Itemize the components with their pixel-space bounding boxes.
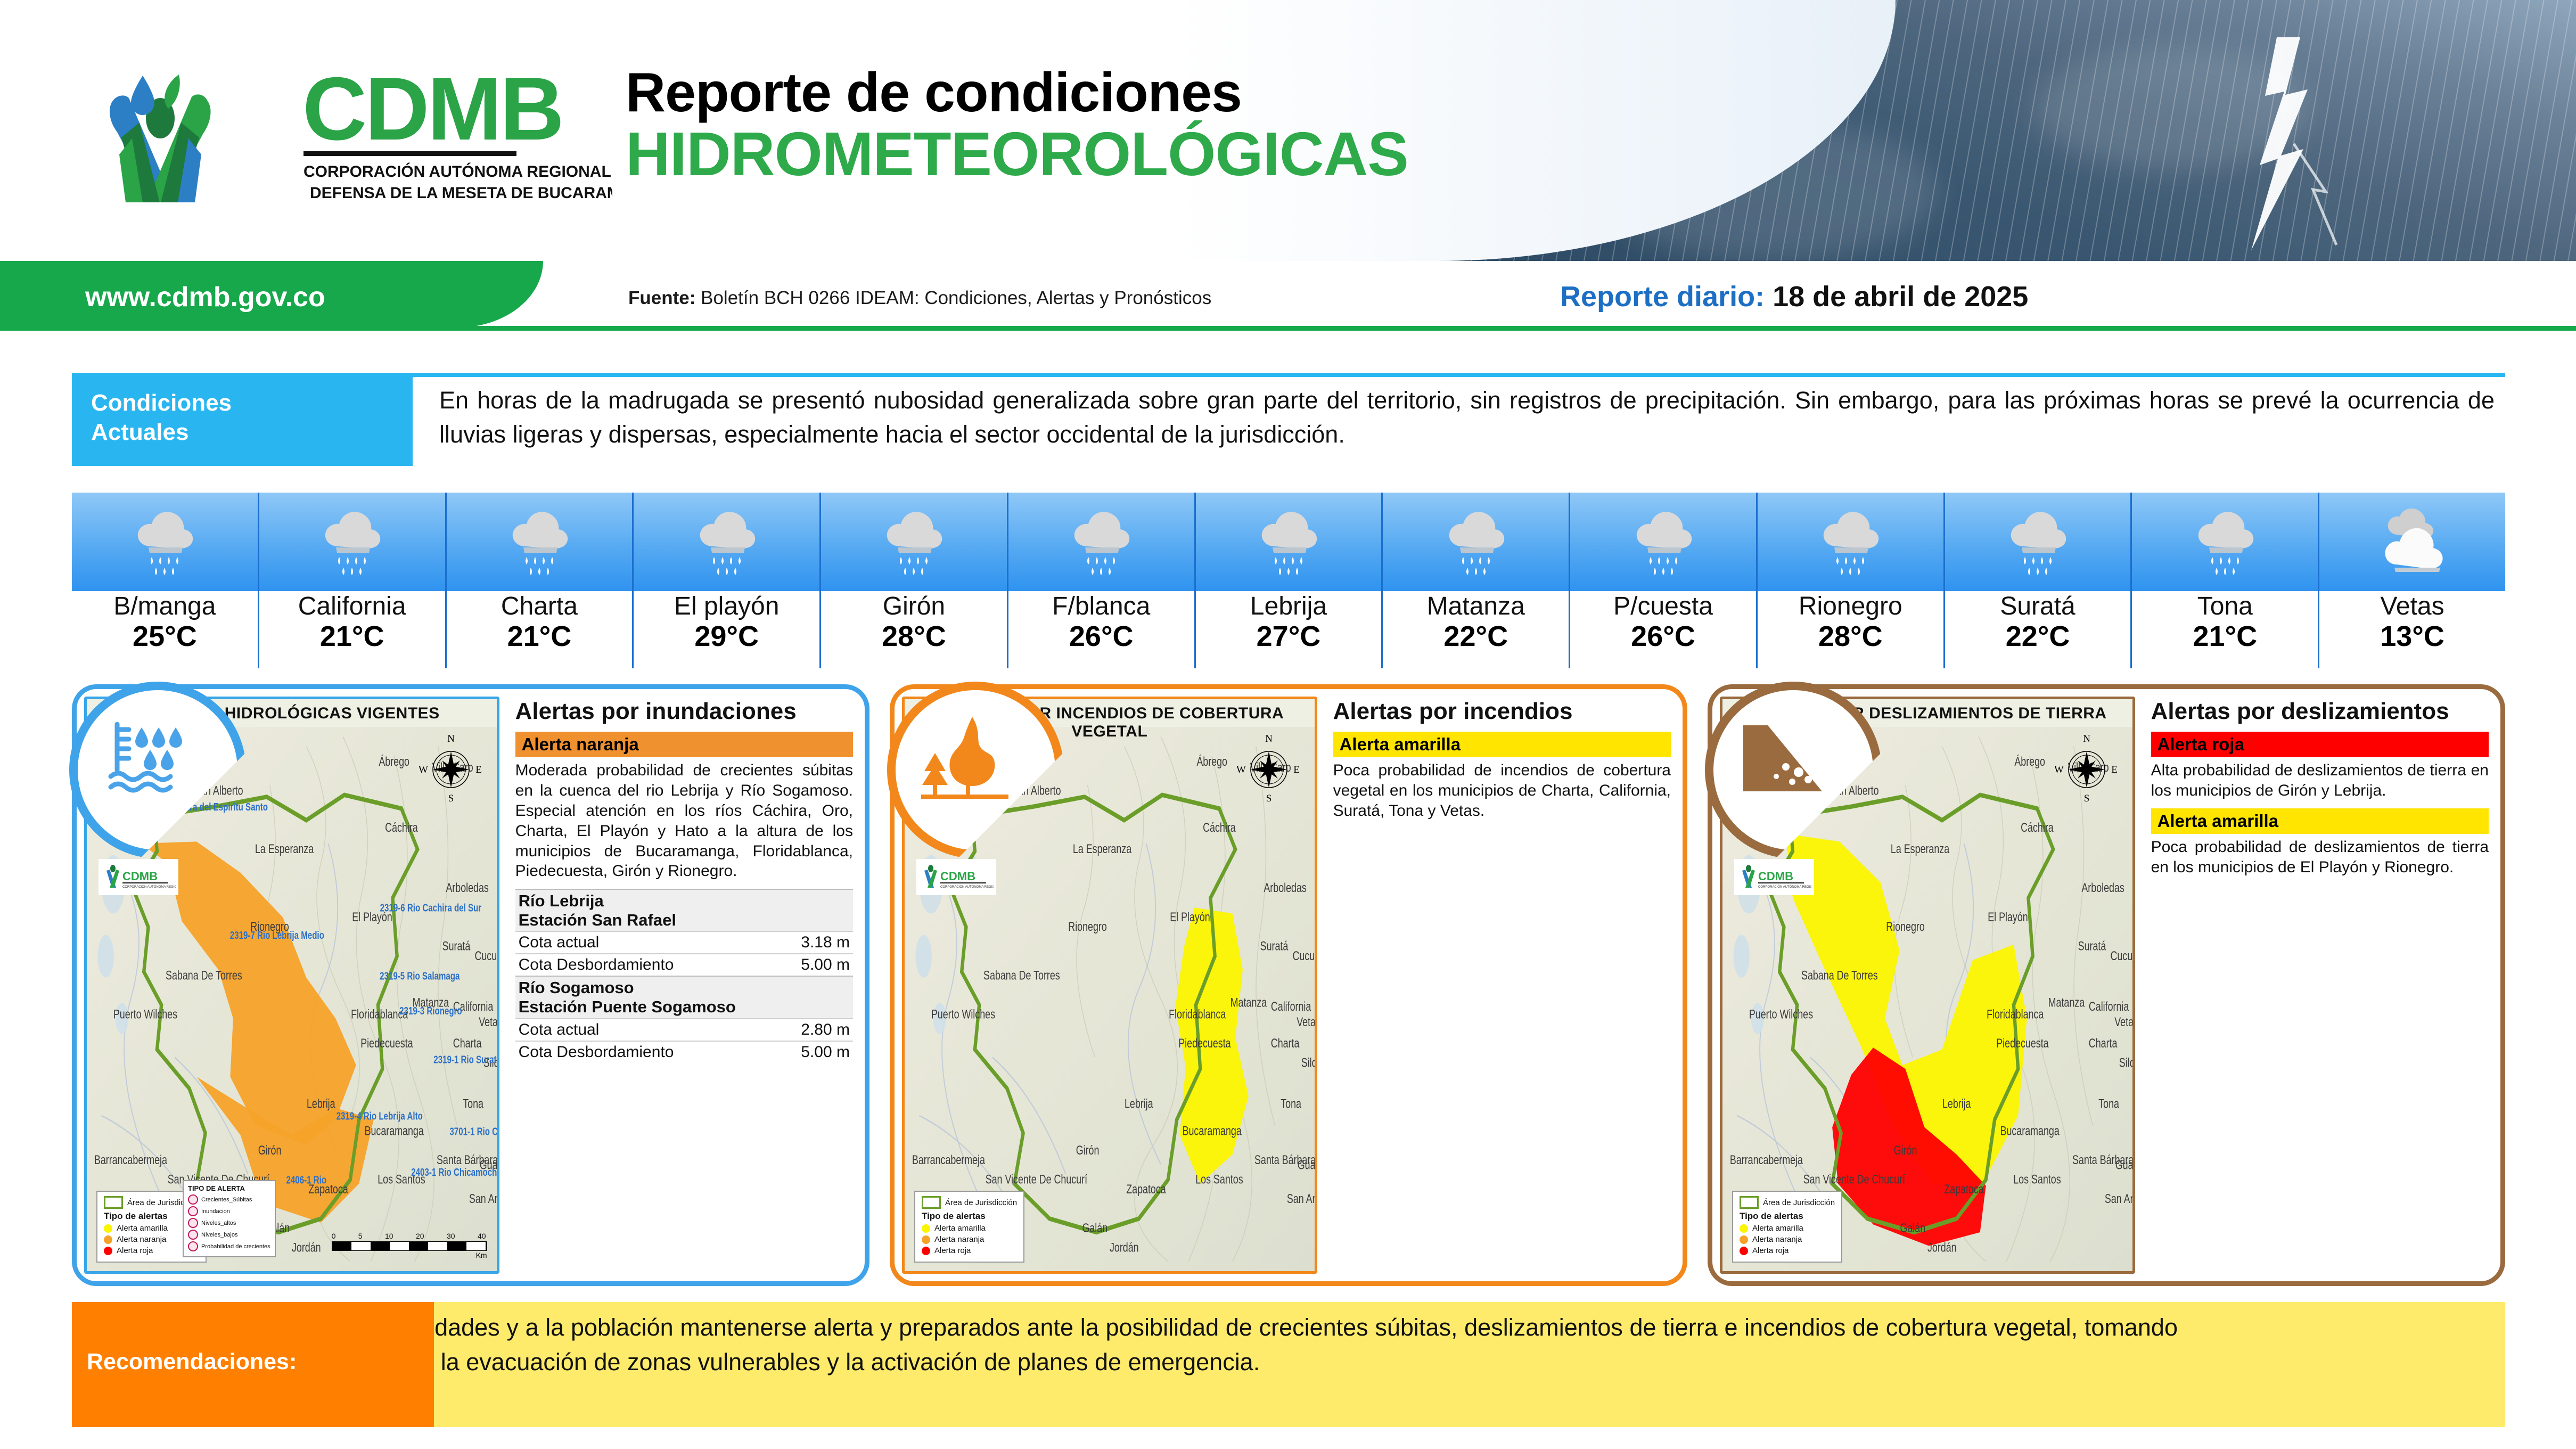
river-measure-label: Cota actual <box>519 1021 600 1039</box>
weather-labels: Rionegro 28°C <box>1758 591 1943 670</box>
map-alert-type-legend: TIPO DE ALERTA Crecientes_Súbitas Inunda… <box>183 1180 276 1257</box>
weather-temp: 28°C <box>882 620 946 654</box>
legend-color-dot <box>1740 1235 1748 1244</box>
rain-cloud-icon <box>1008 493 1194 591</box>
svg-text:La Esperanza: La Esperanza <box>1073 842 1132 856</box>
legend-color-dot <box>1740 1224 1748 1233</box>
alert-type-icon <box>188 1241 198 1251</box>
weather-temp: 26°C <box>1069 620 1134 654</box>
alert-type-legend-row: Crecientes_Súbitas <box>188 1194 270 1205</box>
svg-text:Jordán: Jordán <box>1110 1241 1139 1255</box>
svg-text:Guaca: Guaca <box>2115 1158 2132 1172</box>
svg-text:Ábrego: Ábrego <box>2014 755 2045 769</box>
weather-cell-california: California 21°C <box>259 493 447 668</box>
alert-level-badge: Alerta amarilla <box>1333 732 1671 757</box>
weather-cell-surat-: Suratá 22°C <box>1945 493 2132 668</box>
conditions-top-rule <box>413 373 2505 377</box>
svg-text:CDMB: CDMB <box>1758 870 1793 883</box>
scale-bar-graphic <box>332 1241 487 1251</box>
legend-item-row: Alerta naranja <box>922 1235 1017 1244</box>
svg-text:Charta: Charta <box>2089 1037 2118 1051</box>
svg-text:Cáchira: Cáchira <box>385 821 418 835</box>
rain-cloud-icon <box>634 493 819 591</box>
legend-item-label: Alerta roja <box>1752 1246 1789 1255</box>
weather-temp: 27°C <box>1257 620 1321 654</box>
svg-text:Puerto Wilches: Puerto Wilches <box>1749 1008 1813 1021</box>
svg-text:E: E <box>1293 764 1300 775</box>
svg-text:Rionegro: Rionegro <box>1886 920 1925 934</box>
svg-text:2319-7 Rio Lebrija Medio: 2319-7 Rio Lebrija Medio <box>230 929 324 942</box>
weather-temp: 22°C <box>1443 620 1508 654</box>
river-measure-row: Cota actual 3.18 m <box>515 931 853 953</box>
alert-type-icon <box>188 1194 198 1205</box>
weather-temp: 29°C <box>694 620 759 654</box>
scale-tick: 40 <box>478 1232 486 1240</box>
svg-text:CORPORACIÓN AUTÓNOMA REGIONAL: CORPORACIÓN AUTÓNOMA REGIONAL <box>1758 885 1811 889</box>
svg-text:Sabana De Torres: Sabana De Torres <box>166 969 242 983</box>
river-measure-row: Cota Desbordamiento 5.00 m <box>515 953 853 976</box>
rain-cloud-icon <box>447 493 633 591</box>
scale-tick: 30 <box>447 1232 455 1240</box>
svg-text:Lebrija: Lebrija <box>1942 1097 1971 1111</box>
svg-text:Suratá: Suratá <box>442 939 471 953</box>
scale-tick: 0 <box>332 1232 336 1240</box>
weather-cell-rionegro: Rionegro 28°C <box>1758 493 1945 668</box>
svg-text:La Esperanza: La Esperanza <box>1891 842 1950 856</box>
svg-text:Suratá: Suratá <box>2078 939 2106 953</box>
svg-text:California: California <box>2089 1000 2129 1014</box>
legend-item-label: Alerta amarilla <box>117 1224 168 1233</box>
legend-item-label: Alerta roja <box>117 1246 153 1255</box>
svg-text:El Playón: El Playón <box>1988 911 2028 924</box>
svg-text:3701-1 Rio Chitaga: 3701-1 Rio Chitaga <box>449 1125 496 1137</box>
green-info-bar: www.cdmb.gov.co Fuente: Boletín BCH 0266… <box>0 261 2576 328</box>
svg-text:S: S <box>1266 793 1271 803</box>
svg-text:San Vicente De Chucurí: San Vicente De Chucurí <box>986 1173 1087 1186</box>
legend-color-dot <box>104 1235 112 1244</box>
river-measure-value: 2.80 m <box>801 1021 850 1039</box>
weather-labels: P/cuesta 26°C <box>1570 591 1756 670</box>
svg-text:Galán: Galán <box>1082 1222 1107 1235</box>
weather-city: B/manga <box>113 593 216 620</box>
legend-item-label: Alerta naranja <box>934 1235 984 1244</box>
weather-labels: Girón 28°C <box>821 591 1007 670</box>
svg-text:W: W <box>1237 764 1246 775</box>
weather-labels: Suratá 22°C <box>1945 591 2131 670</box>
legend-color-dot <box>922 1224 930 1233</box>
weather-labels: B/manga 25°C <box>72 591 258 670</box>
svg-text:Lebrija: Lebrija <box>1125 1097 1153 1111</box>
weather-city: Tona <box>2197 593 2253 620</box>
weather-city: F/blanca <box>1052 593 1150 620</box>
svg-text:CORPORACIÓN AUTÓNOMA REGIONAL: CORPORACIÓN AUTÓNOMA REGIONAL <box>940 885 994 889</box>
svg-text:Cáchira: Cáchira <box>1203 821 1236 835</box>
jurisdiction-label: Área de Jurisdicción <box>945 1198 1017 1207</box>
weather-temp: 25°C <box>133 620 197 654</box>
river-header: Río Sogamoso Estación Puente Sogamoso <box>515 976 853 1018</box>
compass-rose-icon: N S E W <box>419 734 483 803</box>
svg-text:CDMB: CDMB <box>302 59 562 159</box>
weather-temp: 28°C <box>1818 620 1883 654</box>
svg-text:Charta: Charta <box>1271 1037 1300 1051</box>
river-station: Estación San Rafael <box>519 911 850 930</box>
weather-city: Lebrija <box>1250 593 1327 620</box>
svg-text:Floridablanca: Floridablanca <box>1169 1008 1226 1021</box>
map-cdmb-logo: CDMB CORPORACIÓN AUTÓNOMA REGIONAL <box>916 859 996 895</box>
legend-color-dot <box>1740 1247 1748 1255</box>
svg-text:2319-6 Rio Cachira del Sur: 2319-6 Rio Cachira del Sur <box>380 902 482 914</box>
svg-text:San Andrés: San Andrés <box>469 1192 497 1206</box>
weather-strip: B/manga 25°C California 21°C <box>72 493 2505 668</box>
weather-city: Vetas <box>2381 593 2444 620</box>
weather-labels: El playón 29°C <box>634 591 819 670</box>
conditions-tab-line1: Condiciones <box>91 389 232 418</box>
river-name: Río Lebrija <box>519 891 850 911</box>
svg-text:2319-5 Rio Salamaga: 2319-5 Rio Salamaga <box>380 970 460 982</box>
recommendations-tab-label: Recomendaciones: <box>87 1349 297 1375</box>
svg-text:E: E <box>2111 764 2118 775</box>
map-cdmb-logo: CDMB CORPORACIÓN AUTÓNOMA REGIONAL <box>99 859 178 895</box>
cdmb-logo: CDMB CORPORACIÓN AUTÓNOMA REGIONAL PARA … <box>80 43 612 218</box>
weather-labels: California 21°C <box>259 591 445 670</box>
alert-type-legend-row: Niveles_altos <box>188 1218 270 1228</box>
legend-color-dot <box>104 1224 112 1233</box>
compass-rose-icon: N S E W <box>2055 734 2119 803</box>
alert-level-badge: Alerta naranja <box>515 732 853 757</box>
svg-text:2319-4 Rio Lebrija Alto: 2319-4 Rio Lebrija Alto <box>337 1110 423 1122</box>
legend-color-dot <box>922 1235 930 1244</box>
svg-text:Piedecuesta: Piedecuesta <box>360 1037 413 1051</box>
svg-text:Matanza: Matanza <box>1230 996 1267 1010</box>
page-header: CDMB CORPORACIÓN AUTÓNOMA REGIONAL PARA … <box>0 0 2576 261</box>
weather-cell-charta: Charta 21°C <box>447 493 634 668</box>
lightning-bolt-icon <box>2214 32 2352 256</box>
alert-type-label: Probabilidad de crecientes <box>201 1243 270 1250</box>
map-cdmb-logo: CDMB CORPORACIÓN AUTÓNOMA REGIONAL <box>1734 859 1814 895</box>
svg-text:Ábrego: Ábrego <box>1196 755 1227 769</box>
svg-text:S: S <box>2083 793 2089 803</box>
title-line-1: Reporte de condiciones <box>626 64 1408 122</box>
svg-text:Cucutilla: Cucutilla <box>1292 949 1314 963</box>
alert-level-badge: Alerta amarilla <box>2151 808 2489 834</box>
rain-cloud-icon <box>72 493 258 591</box>
weather-cell-f-blanca: F/blanca 26°C <box>1008 493 1196 668</box>
svg-text:Arboledas: Arboledas <box>446 881 488 895</box>
jurisdiction-swatch <box>922 1196 941 1209</box>
weather-temp: 26°C <box>1631 620 1695 654</box>
weather-temp: 21°C <box>320 620 384 654</box>
jurisdiction-swatch <box>1740 1196 1759 1209</box>
rain-cloud-icon <box>259 493 445 591</box>
rain-cloud-icon <box>1945 493 2131 591</box>
map-legend: Área de Jurisdicción Tipo de alertas Ale… <box>1732 1191 1842 1263</box>
title-line-2: HIDROMETEOROLÓGICAS <box>626 122 1408 187</box>
panel-title: Alertas por incendios <box>1333 699 1671 724</box>
svg-text:San Andrés: San Andrés <box>1287 1192 1315 1206</box>
svg-text:S: S <box>448 793 454 803</box>
svg-text:Barrancabermeja: Barrancabermeja <box>912 1153 985 1167</box>
alert-type-label: Crecientes_Súbitas <box>201 1197 252 1203</box>
map-legend: Área de Jurisdicción Tipo de alertas Ale… <box>914 1191 1024 1263</box>
weather-cell-el-play-n: El playón 29°C <box>634 493 821 668</box>
svg-text:Arboledas: Arboledas <box>2081 881 2124 895</box>
svg-text:Vetas: Vetas <box>2114 1016 2132 1029</box>
river-measure-value: 5.00 m <box>801 1043 850 1061</box>
svg-text:Suratá: Suratá <box>1260 939 1289 953</box>
report-date: 18 de abril de 2025 <box>1773 281 2028 313</box>
weather-cell-tona: Tona 21°C <box>2132 493 2319 668</box>
svg-text:Vetas: Vetas <box>1297 1016 1314 1029</box>
weather-city: El playón <box>674 593 779 620</box>
svg-text:Bucaramanga: Bucaramanga <box>2000 1124 2060 1138</box>
svg-text:Matanza: Matanza <box>2048 996 2085 1010</box>
svg-text:W: W <box>2055 764 2064 775</box>
weather-labels: Tona 21°C <box>2132 591 2318 670</box>
svg-text:Bucaramanga: Bucaramanga <box>365 1124 424 1138</box>
rain-cloud-icon <box>821 493 1007 591</box>
svg-text:N: N <box>447 734 455 744</box>
alert-type-label: Inundacion <box>201 1208 230 1215</box>
svg-text:San Vicente De Chucurí: San Vicente De Chucurí <box>1803 1173 1905 1186</box>
svg-text:La Esperanza: La Esperanza <box>255 842 314 856</box>
river-name: Río Sogamoso <box>519 978 850 997</box>
svg-text:Barrancabermeja: Barrancabermeja <box>1730 1153 1803 1167</box>
report-date-line: Reporte diario: 18 de abril de 2025 <box>1560 280 2028 313</box>
svg-text:Los Santos: Los Santos <box>2013 1173 2061 1186</box>
map-scale-bar: 0510203040 Km <box>332 1232 487 1259</box>
conditions-tab-text: Condiciones Actuales <box>91 389 232 447</box>
compass-rose-icon: N S E W <box>2055 734 2119 805</box>
svg-text:Silos: Silos <box>2119 1056 2132 1070</box>
svg-text:N: N <box>2083 734 2090 744</box>
weather-cell-vetas: Vetas 13°C <box>2319 493 2505 668</box>
alert-level-badge: Alerta roja <box>2151 732 2489 757</box>
compass-rose-icon: N S E W <box>419 734 483 805</box>
source-label: Fuente: <box>628 288 695 308</box>
svg-text:Girón: Girón <box>258 1144 282 1158</box>
weather-temp: 13°C <box>2380 620 2444 654</box>
conditions-text: En horas de la madrugada se presentó nub… <box>439 383 2495 452</box>
svg-text:Arboledas: Arboledas <box>1264 881 1306 895</box>
svg-text:Piedecuesta: Piedecuesta <box>1178 1037 1231 1051</box>
weather-city: Girón <box>883 593 945 620</box>
river-measure-value: 3.18 m <box>801 934 850 952</box>
compass-rose-icon: N S E W <box>1237 734 1301 803</box>
svg-text:Tona: Tona <box>463 1097 483 1111</box>
svg-text:E: E <box>475 764 482 775</box>
svg-text:Los Santos: Los Santos <box>1195 1173 1243 1186</box>
alert-description: Alta probabilidad de deslizamientos de t… <box>2151 760 2489 801</box>
rain-cloud-icon <box>1196 493 1382 591</box>
source-text: Boletín BCH 0266 IDEAM: Condiciones, Ale… <box>701 288 1211 308</box>
svg-text:2403-1 Rio Chicamocha: 2403-1 Rio Chicamocha <box>411 1166 496 1178</box>
legend-item-row: Alerta naranja <box>1740 1235 1835 1244</box>
legend-item-label: Alerta roja <box>934 1246 971 1255</box>
weather-labels: Vetas 13°C <box>2319 591 2505 670</box>
alert-description: Poca probabilidad de incendios de cobert… <box>1333 760 1671 821</box>
panel-title: Alertas por deslizamientos <box>2151 699 2489 724</box>
svg-text:W: W <box>419 764 428 775</box>
weather-city: Matanza <box>1427 593 1525 620</box>
weather-temp: 21°C <box>507 620 572 654</box>
panel-side-inundaciones: Alertas por inundaciones Alerta naranja … <box>507 689 865 1281</box>
svg-text:CORPORACIÓN AUTÓNOMA REGIONAL: CORPORACIÓN AUTÓNOMA REGIONAL <box>122 885 176 889</box>
website-url[interactable]: www.cdmb.gov.co <box>85 281 325 313</box>
legend-color-dot <box>104 1247 112 1255</box>
river-station: Estación Puente Sogamoso <box>519 997 850 1017</box>
river-header: Río Lebrija Estación San Rafael <box>515 889 853 931</box>
svg-text:Cucutilla: Cucutilla <box>474 949 496 963</box>
current-conditions-section: Condiciones Actuales En horas de la madr… <box>72 373 2505 466</box>
logo-subtitle-line2: DEFENSA DE LA MESETA DE BUCARAMANGA <box>310 184 612 202</box>
legend-item-row: Alerta roja <box>922 1246 1017 1255</box>
svg-text:Tona: Tona <box>1281 1097 1301 1111</box>
alert-type-legend-row: Niveles_bajos <box>188 1230 270 1240</box>
alert-type-legend-row: Probabilidad de crecientes <box>188 1241 270 1251</box>
river-measure-row: Cota Desbordamiento 5.00 m <box>515 1041 853 1063</box>
legend-jurisdiction-row: Área de Jurisdicción <box>1740 1196 1835 1209</box>
weather-cell-b-manga: B/manga 25°C <box>72 493 259 668</box>
svg-text:Tona: Tona <box>2098 1097 2119 1111</box>
svg-text:Floridablanca: Floridablanca <box>1987 1008 2044 1021</box>
svg-text:Ábrego: Ábrego <box>379 755 409 769</box>
svg-text:Cucutilla: Cucutilla <box>2110 949 2132 963</box>
svg-text:Puerto Wilches: Puerto Wilches <box>931 1008 995 1021</box>
alert-type-legend-row: Inundacion <box>188 1206 270 1216</box>
alert-panel-incendios: ALERTAS POR INCENDIOS DE COBERTURA VEGET… <box>890 684 1687 1286</box>
river-measure-row: Cota actual 2.80 m <box>515 1018 853 1041</box>
svg-text:Barrancabermeja: Barrancabermeja <box>94 1153 167 1167</box>
rain-cloud-icon <box>2132 493 2318 591</box>
rain-cloud-icon <box>1570 493 1756 591</box>
weather-labels: F/blanca 26°C <box>1008 591 1194 670</box>
legend-item-label: Alerta amarilla <box>1752 1224 1803 1233</box>
alert-type-label: Niveles_altos <box>201 1220 236 1226</box>
svg-text:Piedecuesta: Piedecuesta <box>1996 1037 2049 1051</box>
legend-item-row: Alerta roja <box>1740 1246 1835 1255</box>
legend-color-dot <box>922 1247 930 1255</box>
svg-text:Guaca: Guaca <box>1298 1158 1315 1172</box>
weather-city: Charta <box>501 593 578 620</box>
svg-text:Jordán: Jordán <box>1927 1241 1957 1255</box>
svg-text:Rionegro: Rionegro <box>1068 920 1107 934</box>
alert-panels-row: ALERTAS HIDROLÓGICAS VIGENTES <box>72 684 2505 1286</box>
panel-title: Alertas por inundaciones <box>515 699 853 724</box>
jurisdiction-label: Área de Jurisdicción <box>1763 1198 1835 1207</box>
scale-tick: 20 <box>416 1232 424 1240</box>
svg-text:Silos: Silos <box>1301 1056 1315 1070</box>
green-divider-rule <box>0 326 2576 331</box>
alert-panel-inundaciones: ALERTAS HIDROLÓGICAS VIGENTES <box>72 684 869 1286</box>
report-label: Reporte diario: <box>1560 281 1765 313</box>
svg-text:2319-3 Rionegro: 2319-3 Rionegro <box>399 1005 462 1017</box>
page-title: Reporte de condiciones HIDROMETEOROLÓGIC… <box>626 64 1408 187</box>
weather-cell-p-cuesta: P/cuesta 26°C <box>1570 493 1758 668</box>
weather-temp: 22°C <box>2006 620 2070 654</box>
alert-type-icon <box>188 1206 198 1216</box>
legend-jurisdiction-row: Área de Jurisdicción <box>922 1196 1017 1209</box>
svg-text:Sabana De Torres: Sabana De Torres <box>983 969 1060 983</box>
river-measure-label: Cota actual <box>519 934 600 952</box>
weather-temp: 21°C <box>2193 620 2257 654</box>
legend-item-label: Alerta naranja <box>1752 1235 1802 1244</box>
river-measure-label: Cota Desbordamiento <box>519 956 674 974</box>
legend-item-label: Alerta amarilla <box>934 1224 986 1233</box>
alert-type-icon <box>188 1230 198 1240</box>
svg-text:Puerto Wilches: Puerto Wilches <box>113 1008 177 1021</box>
rain-cloud-icon <box>1758 493 1943 591</box>
svg-text:Lebrija: Lebrija <box>307 1097 335 1111</box>
svg-text:Bucaramanga: Bucaramanga <box>1183 1124 1242 1138</box>
svg-text:2406-1 Rio: 2406-1 Rio <box>286 1174 327 1186</box>
weather-cell-gir-n: Girón 28°C <box>821 493 1008 668</box>
svg-text:California: California <box>1271 1000 1311 1014</box>
weather-labels: Matanza 22°C <box>1383 591 1569 670</box>
svg-text:Girón: Girón <box>1894 1144 1917 1158</box>
alert-type-icon <box>188 1218 198 1228</box>
alert-type-legend-title: TIPO DE ALERTA <box>188 1184 270 1192</box>
svg-text:Zapatoca: Zapatoca <box>1944 1183 1984 1197</box>
logo-subtitle-line1: CORPORACIÓN AUTÓNOMA REGIONAL PARA LA <box>303 162 612 181</box>
svg-text:Girón: Girón <box>1076 1144 1100 1158</box>
svg-text:2319-1 Rio Surata: 2319-1 Rio Surata <box>433 1053 496 1066</box>
alert-type-label: Niveles_bajos <box>201 1232 237 1238</box>
legend-item-row: Alerta amarilla <box>1740 1224 1835 1233</box>
legend-title: Tipo de alertas <box>922 1211 1017 1222</box>
compass-rose-icon: N S E W <box>1237 734 1301 805</box>
alert-description: Moderada probabilidad de crecientes súbi… <box>515 760 853 881</box>
panel-side-deslizamientos: Alertas por deslizamientos Alerta roja A… <box>2143 689 2500 1281</box>
svg-text:CDMB: CDMB <box>940 870 975 883</box>
weather-labels: Charta 21°C <box>447 591 633 670</box>
alert-description: Poca probabilidad de deslizamientos de t… <box>2151 837 2489 878</box>
svg-text:N: N <box>1265 734 1273 744</box>
legend-title: Tipo de alertas <box>1740 1211 1835 1222</box>
weather-city: P/cuesta <box>1613 593 1713 620</box>
svg-text:Charta: Charta <box>453 1037 482 1051</box>
weather-city: Suratá <box>2000 593 2075 620</box>
source-line: Fuente: Boletín BCH 0266 IDEAM: Condicio… <box>628 288 1211 309</box>
conditions-tab-line2: Actuales <box>91 418 232 447</box>
panel-side-incendios: Alertas por incendios Alerta amarilla Po… <box>1325 689 1683 1281</box>
river-measure-label: Cota Desbordamiento <box>519 1043 674 1061</box>
svg-text:Sabana De Torres: Sabana De Torres <box>1801 969 1878 983</box>
river-measure-value: 5.00 m <box>801 956 850 974</box>
rain-cloud-icon <box>1383 493 1569 591</box>
weather-city: Rionegro <box>1799 593 1902 620</box>
weather-cell-matanza: Matanza 22°C <box>1383 493 1570 668</box>
recommendations-text: Se recomienda a las autoridades y a la p… <box>149 1311 2178 1380</box>
legend-item-label: Alerta naranja <box>117 1235 166 1244</box>
weather-cell-lebrija: Lebrija 27°C <box>1196 493 1383 668</box>
svg-text:Galán: Galán <box>1900 1222 1925 1235</box>
scale-tick: 10 <box>385 1232 393 1240</box>
weather-labels: Lebrija 27°C <box>1196 591 1382 670</box>
svg-text:Vetas: Vetas <box>479 1016 496 1029</box>
svg-text:Jordán: Jordán <box>292 1241 321 1255</box>
svg-text:San Andrés: San Andrés <box>2105 1192 2132 1206</box>
scale-tick: 5 <box>358 1232 363 1240</box>
weather-city: California <box>298 593 406 620</box>
alert-panel-deslizamientos: ALERTAS POR DESLIZAMIENTOS DE TIERRA <box>1708 684 2505 1286</box>
svg-text:El Playón: El Playón <box>1170 911 1210 924</box>
jurisdiction-swatch <box>104 1196 123 1209</box>
cloudy-icon <box>2319 493 2505 591</box>
svg-text:Cáchira: Cáchira <box>2021 821 2054 835</box>
legend-item-row: Alerta amarilla <box>922 1224 1017 1233</box>
scale-unit: Km <box>332 1251 487 1259</box>
recommendations-section: Se recomienda a las autoridades y a la p… <box>72 1302 2505 1427</box>
